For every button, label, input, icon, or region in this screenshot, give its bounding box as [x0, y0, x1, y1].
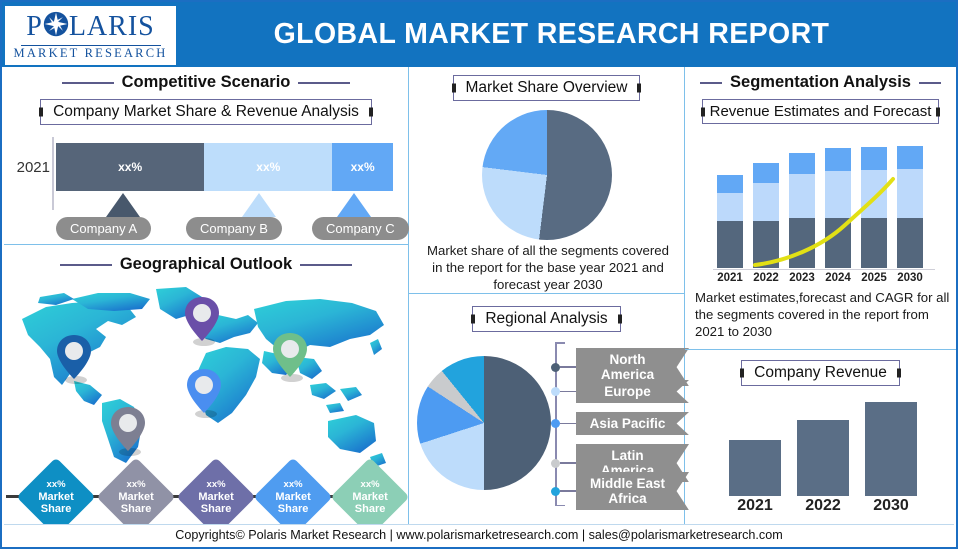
- hex-badge-5-line2: Share: [355, 503, 386, 515]
- pin-north-america[interactable]: [54, 333, 94, 390]
- segment-high: [861, 147, 887, 170]
- segmentation-frame-title: Revenue Estimates and Forecast: [702, 99, 940, 124]
- market-share-hex-badges: xx% Market Share xx% Market Share xx% Ma…: [4, 467, 409, 525]
- segment-low: [789, 218, 815, 268]
- seg-year-2030: 2030: [890, 272, 930, 284]
- bar-segment-company-a: xx%: [56, 143, 204, 191]
- segmentation-frame-wrap: Revenue Estimates and Forecast: [685, 99, 956, 124]
- regional-label-line1: Middle East: [590, 476, 665, 491]
- pin-latin-america[interactable]: [108, 405, 148, 462]
- regional-row-middle-east-africa[interactable]: Middle East Africa: [555, 472, 689, 510]
- company-markers: [56, 193, 393, 219]
- regional-analysis-panel: Regional Analysis North America Europe A…: [409, 294, 685, 526]
- competitive-frame-wrap: Company Market Share & Revenue Analysis: [4, 99, 408, 125]
- hex-badge-1-pct: xx%: [46, 479, 65, 490]
- bar-year-label: 2021: [10, 159, 50, 176]
- segmentation-section-title: Segmentation Analysis: [685, 73, 956, 92]
- footer-text: Copyrights© Polaris Market Research | ww…: [175, 528, 782, 542]
- regional-leader-line: [560, 423, 576, 425]
- stacked-bar-2021: [717, 175, 743, 268]
- regional-row-asia-pacific[interactable]: Asia Pacific: [555, 412, 689, 435]
- header-bar: P LARIS MARKET RESEARCH GLOBAL MARKET RE…: [2, 2, 956, 67]
- rev-year-2022: 2022: [788, 497, 858, 515]
- regional-row-europe[interactable]: Europe: [555, 380, 689, 403]
- seg-year-2021: 2021: [710, 272, 750, 284]
- regional-leader-line: [560, 366, 576, 368]
- segment-high: [717, 175, 743, 193]
- revenue-bar-2021: [729, 440, 781, 496]
- hex-badge-5-pct: xx%: [360, 479, 379, 490]
- compass-star-icon: [43, 11, 69, 43]
- regional-dot-europe: [551, 387, 560, 396]
- stacked-bar: xx% xx% xx%: [56, 143, 393, 191]
- regional-leader-line: [560, 490, 576, 492]
- segment-high: [825, 148, 851, 171]
- company-pill-c[interactable]: Company C: [312, 217, 409, 240]
- stacked-bar-2024: [825, 148, 851, 268]
- segment-low: [825, 218, 851, 268]
- report-infographic: P LARIS MARKET RESEARCH GLOBAL MARKET RE…: [0, 0, 958, 549]
- revenue-bar-2030: [865, 402, 917, 496]
- seg-year-2024: 2024: [818, 272, 858, 284]
- competitive-section-title: Competitive Scenario: [4, 73, 408, 92]
- hex-badge-3-line1: Market: [198, 491, 233, 503]
- pin-middle-east-africa[interactable]: [184, 367, 224, 424]
- chart-baseline: [713, 269, 935, 271]
- marker-triangle-company-b: [242, 193, 276, 217]
- seg-year-2025: 2025: [854, 272, 894, 284]
- geographical-section-title-text: Geographical Outlook: [120, 255, 292, 274]
- hex-badge-3-pct: xx%: [206, 479, 225, 490]
- regional-dot-asia-pacific: [551, 419, 560, 428]
- stacked-bar-2030: [897, 146, 923, 268]
- logo-letters-rest: LARIS: [69, 13, 155, 41]
- footer-bar: Copyrights© Polaris Market Research | ww…: [4, 524, 954, 545]
- bar-segment-company-c: xx%: [332, 143, 393, 191]
- title-rule-right: [298, 82, 350, 84]
- segment-low: [897, 218, 923, 268]
- segment-high: [897, 146, 923, 169]
- title-rule-left: [60, 264, 112, 266]
- marker-triangle-company-a: [106, 193, 140, 217]
- hex-badge-1-line2: Share: [41, 503, 72, 515]
- company-pill-b[interactable]: Company B: [186, 217, 282, 240]
- market-share-frame-title: Market Share Overview: [453, 75, 641, 101]
- chart-axis: [52, 137, 54, 210]
- competitive-scenario-panel: Competitive Scenario Company Market Shar…: [4, 67, 409, 245]
- regional-frame-wrap: Regional Analysis: [409, 306, 684, 332]
- regional-frame-title: Regional Analysis: [472, 306, 620, 332]
- company-revenue-frame-title: Company Revenue: [741, 360, 900, 386]
- regional-label-line2: Africa: [608, 491, 646, 506]
- segment-mid: [717, 193, 743, 221]
- hex-badge-4-line1: Market: [275, 491, 310, 503]
- bar-segment-company-b: xx%: [204, 143, 332, 191]
- hex-badge-2-line2: Share: [121, 503, 152, 515]
- hex-badge-2-pct: xx%: [126, 479, 145, 490]
- geographical-outlook-panel: Geographical Outlook: [4, 245, 409, 526]
- marker-triangle-company-c: [337, 193, 371, 217]
- company-revenue-panel: Company Revenue 2021 2022 2030: [685, 350, 956, 526]
- company-pill-a[interactable]: Company A: [56, 217, 151, 240]
- company-legend-pills: Company A Company B Company C: [14, 217, 404, 243]
- segment-mid: [897, 169, 923, 218]
- segment-low: [717, 221, 743, 268]
- hex-badge-1-line1: Market: [38, 491, 73, 503]
- segment-high: [753, 163, 779, 183]
- title-rule-left: [700, 82, 722, 84]
- pin-asia-pacific[interactable]: [270, 331, 310, 388]
- revenue-bar-2022: [797, 420, 849, 496]
- regional-dot-latin-america: [551, 459, 560, 468]
- segment-mid: [861, 170, 887, 218]
- title-rule-right: [919, 82, 941, 84]
- segment-low: [861, 218, 887, 268]
- market-share-overview-pie: [482, 110, 612, 240]
- title-rule-left: [62, 82, 114, 84]
- segment-mid: [753, 183, 779, 221]
- regional-label-europe: Europe: [576, 380, 689, 403]
- market-share-frame-wrap: Market Share Overview: [409, 75, 684, 101]
- rev-year-2030: 2030: [856, 497, 926, 515]
- segment-mid: [789, 174, 815, 218]
- hex-badge-4-line2: Share: [278, 503, 309, 515]
- segment-mid: [825, 171, 851, 218]
- hex-badge-3-line2: Share: [201, 503, 232, 515]
- competitive-frame-title: Company Market Share & Revenue Analysis: [40, 99, 372, 125]
- revenue-estimates-stacked: [703, 125, 941, 270]
- segmentation-note: Market estimates,forecast and CAGR for a…: [695, 289, 951, 340]
- seg-year-2023: 2023: [782, 272, 822, 284]
- logo-letter-p: P: [26, 13, 43, 41]
- company-revenue-frame-wrap: Company Revenue: [685, 360, 956, 386]
- competitive-section-title-text: Competitive Scenario: [122, 73, 291, 92]
- segmentation-section-title-text: Segmentation Analysis: [730, 73, 911, 92]
- hex-badge-5-line1: Market: [352, 491, 387, 503]
- regional-label-middle-east-africa: Middle East Africa: [576, 472, 689, 510]
- stacked-bar-2022: [753, 163, 779, 268]
- regional-dot-middle-east-africa: [551, 487, 560, 496]
- regional-leader-line: [560, 462, 576, 464]
- logo-wordmark: P LARIS: [26, 11, 154, 43]
- hex-badge-4-pct: xx%: [283, 479, 302, 490]
- segment-low: [753, 221, 779, 268]
- regional-leader-line: [560, 391, 576, 393]
- stacked-bar-2023: [789, 153, 815, 268]
- market-share-overview-panel: Market Share Overview Market share of al…: [409, 67, 685, 294]
- regional-dot-north-america: [551, 363, 560, 372]
- company-revenue-year-axis: 2021 2022 2030: [727, 497, 937, 517]
- logo-subtitle: MARKET RESEARCH: [14, 47, 168, 60]
- title-rule-right: [300, 264, 352, 266]
- geographical-section-title: Geographical Outlook: [4, 255, 408, 274]
- page-title: GLOBAL MARKET RESEARCH REPORT: [177, 18, 956, 51]
- stacked-bar-2025: [861, 147, 887, 268]
- seg-year-2022: 2022: [746, 272, 786, 284]
- market-share-note: Market share of all the segments covered…: [421, 243, 675, 294]
- polaris-logo: P LARIS MARKET RESEARCH: [4, 5, 177, 66]
- company-revenue-bar: [727, 398, 937, 496]
- segmentation-year-axis: 2021 2022 2023 2024 2025 2030: [703, 272, 941, 288]
- pin-europe[interactable]: [182, 295, 222, 352]
- rev-year-2021: 2021: [720, 497, 790, 515]
- world-map-icon: [10, 281, 404, 471]
- segmentation-analysis-panel: Segmentation Analysis Revenue Estimates …: [685, 67, 956, 350]
- regional-label-asia-pacific: Asia Pacific: [576, 412, 689, 435]
- segment-high: [789, 153, 815, 174]
- hex-badge-2-line1: Market: [118, 491, 153, 503]
- regional-analysis-pie: [417, 356, 551, 490]
